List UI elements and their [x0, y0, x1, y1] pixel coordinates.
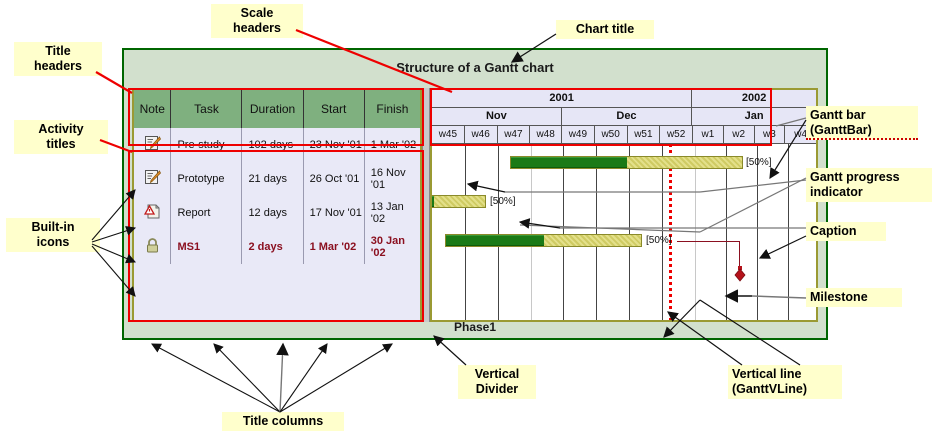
gantt-plot-area: [50%] [50%] [50%]: [432, 144, 816, 320]
chart-title: Structure of a Gantt chart: [124, 60, 826, 75]
gantt-bar-caption: [50%]: [746, 156, 772, 169]
phase-caption: Phase1: [124, 320, 826, 334]
leader-col-4: [280, 344, 327, 412]
callout-milestone: Milestone: [806, 288, 902, 307]
callout-activity-titles: Activity titles: [14, 120, 108, 154]
callout-chart-title: Chart title: [556, 20, 654, 39]
milestone-diamond-icon[interactable]: [734, 266, 746, 289]
callout-vertical-line: Vertical line (GanttVLine): [728, 365, 842, 399]
gantt-bar-caption: [50%]: [646, 234, 672, 247]
gridline-w48: [531, 144, 532, 320]
callout-builtin-icons: Built-in icons: [6, 218, 100, 252]
callout-gantt-bar: Gantt bar (GanttBar): [806, 106, 918, 140]
callout-title-columns: Title columns: [222, 412, 344, 431]
callout-scale-headers: Scale headers: [211, 4, 303, 38]
gridline-w50: [596, 144, 597, 320]
gridline-w4: [788, 144, 789, 320]
gridline-w2: [726, 144, 727, 320]
gantt-bar-prototype[interactable]: [430, 195, 486, 208]
gridline-w51: [629, 144, 630, 320]
highlight-title-headers: [128, 88, 424, 146]
highlight-scale-headers: [430, 88, 772, 146]
gridline-w1: [695, 144, 696, 320]
gantt-bar-caption: [50%]: [490, 195, 516, 208]
leader-col-2: [214, 344, 280, 412]
gridline-w47: [498, 144, 499, 320]
gantt-bar-report[interactable]: [445, 234, 642, 247]
leader-col-5: [280, 344, 392, 412]
gridline-w3: [757, 144, 758, 320]
gantt-progress-indicator: [446, 235, 544, 246]
gridline-w49: [563, 144, 564, 320]
callout-vertical-divider: Vertical Divider: [458, 365, 536, 399]
gantt-progress-indicator: [430, 196, 434, 207]
callout-title-headers: Title headers: [14, 42, 102, 76]
gridline-w52: [662, 144, 663, 320]
milestone-connector: [677, 241, 740, 273]
callout-caption: Caption: [806, 222, 886, 241]
leader-vertical-divider: [434, 336, 466, 365]
gridline-w46: [465, 144, 466, 320]
gantt-bar-pre-study[interactable]: [510, 156, 743, 169]
callout-gantt-progress: Gantt progress indicator: [806, 168, 932, 202]
leader-col-1: [152, 344, 280, 412]
highlight-activity-titles: [128, 150, 424, 322]
leader-col-3: [280, 344, 283, 412]
gantt-vline[interactable]: [669, 144, 672, 320]
gantt-progress-indicator: [511, 157, 627, 168]
